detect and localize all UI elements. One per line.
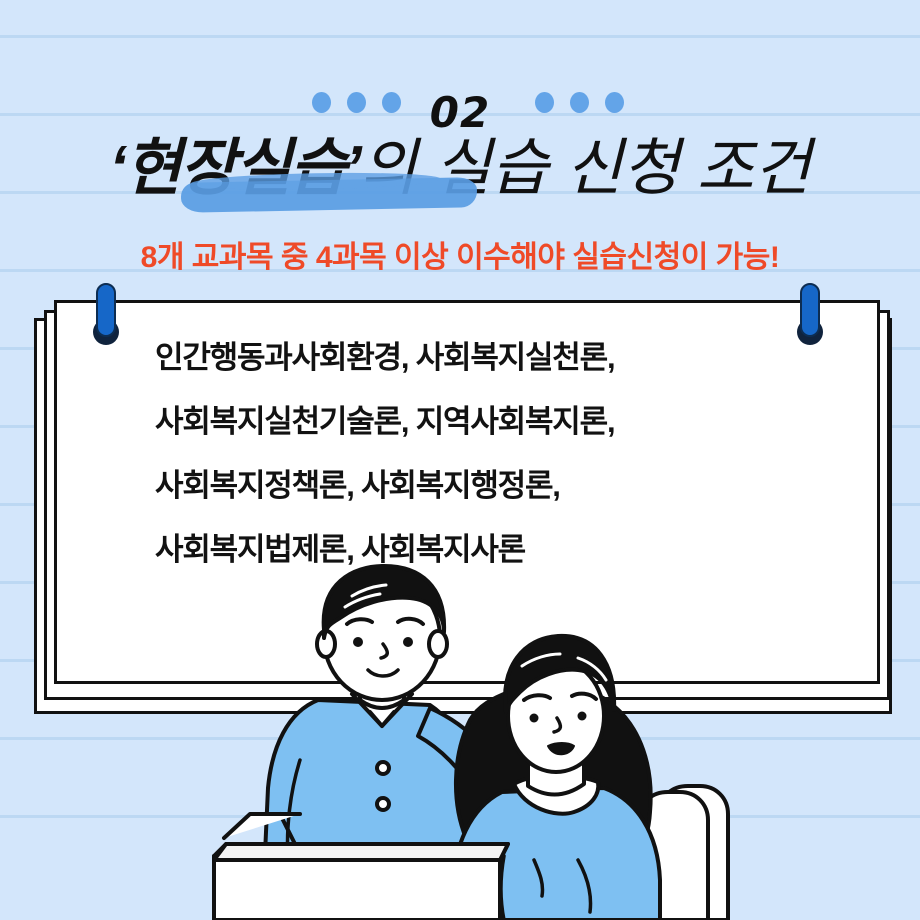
section-number: 02 bbox=[0, 88, 920, 137]
highlighter-stroke bbox=[181, 177, 478, 213]
course-line: 사회복지실천기술론, 지역사회복지론, bbox=[155, 390, 855, 454]
course-list: 인간행동과사회환경, 사회복지실천론, 사회복지실천기술론, 지역사회복지론, … bbox=[155, 326, 855, 582]
page-title: ‘현장실습’의 실습 신청 조건 bbox=[0, 132, 920, 206]
push-pin-icon-left bbox=[93, 283, 119, 345]
pin-shaft bbox=[96, 283, 116, 337]
course-line: 사회복지정책론, 사회복지행정론, bbox=[155, 454, 855, 518]
course-line: 인간행동과사회환경, 사회복지실천론, bbox=[155, 326, 855, 390]
subtitle-note: 8개 교과목 중 4과목 이상 이수해야 실습신청이 가능! bbox=[0, 232, 920, 276]
infographic-card: 02 ‘현장실습’의 실습 신청 조건 8개 교과목 중 4과목 이상 이수해야… bbox=[0, 0, 920, 920]
course-line: 사회복지법제론, 사회복지사론 bbox=[155, 518, 855, 582]
